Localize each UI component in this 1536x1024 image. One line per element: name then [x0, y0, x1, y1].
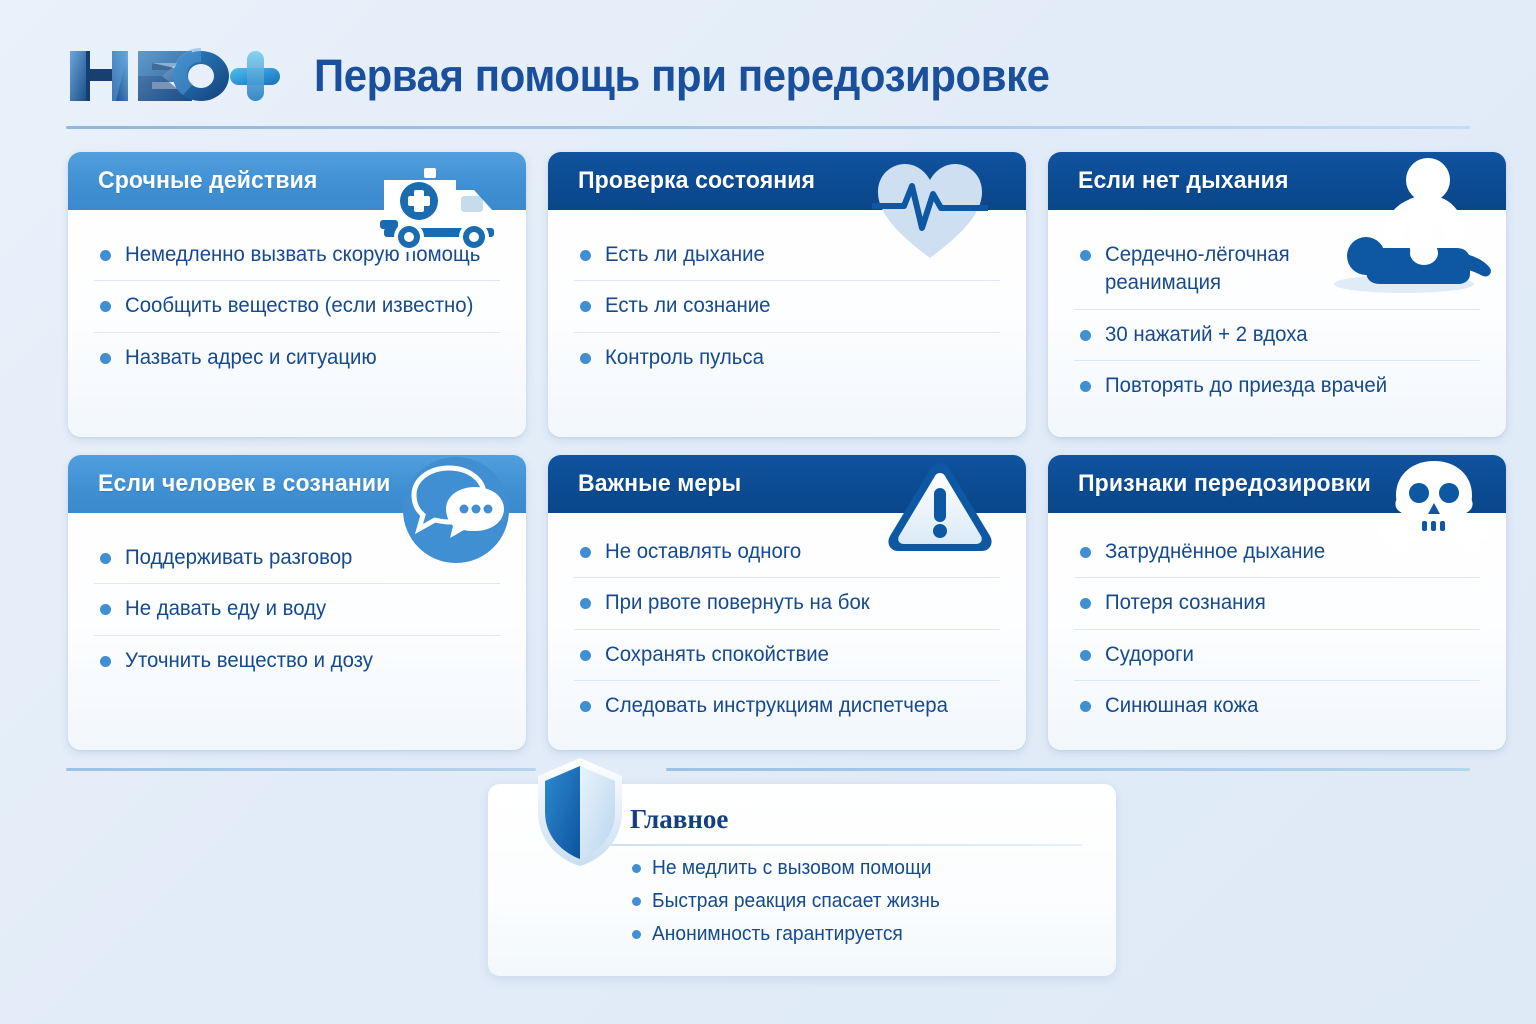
list-item: Судороги: [1074, 629, 1480, 680]
bullet-dot: [1080, 650, 1091, 661]
card-urgent-actions[interactable]: Срочные действия: [68, 152, 526, 437]
footer-divider-left: [66, 768, 536, 771]
card-body: Есть ли дыхание Есть ли сознание Контрол…: [548, 210, 1026, 399]
list-item: Поддерживать разговор: [94, 533, 500, 583]
card-body: Сердечно-лёгочная реанимация 30 нажатий …: [1048, 210, 1506, 427]
list-item-text: При рвоте повернуть на бок: [605, 589, 870, 617]
card-body: Немедленно вызвать скорую помощь Сообщит…: [68, 210, 526, 399]
bullet-dot: [580, 598, 591, 609]
list-item-text: Сохранять спокойствие: [605, 641, 829, 669]
list-item: Не давать еду и воду: [94, 583, 500, 634]
list-item-text: Судороги: [1105, 641, 1194, 669]
card-title: Признаки передозировки: [1078, 470, 1371, 498]
bullet-dot: [1080, 330, 1091, 341]
list-item: Повторять до приезда врачей: [1074, 360, 1480, 411]
card-important-measures[interactable]: Важные меры Не оставлять од: [548, 455, 1026, 750]
list-item: Сообщить вещество (если известно): [94, 280, 500, 331]
footer-title: Главное: [594, 800, 1082, 833]
shield-icon: [534, 756, 626, 868]
bullet-dot: [580, 353, 591, 364]
list-item-text: Немедленно вызвать скорую помощь: [125, 241, 480, 269]
card-body: Поддерживать разговор Не давать еду и во…: [68, 513, 526, 702]
card-no-breathing[interactable]: Если нет дыхания: [1048, 152, 1506, 437]
page-title: Первая помощь при передозировке: [314, 50, 1050, 102]
list-item-text: Повторять до приезда врачей: [1105, 372, 1387, 400]
list-item-text: Следовать инструкциям диспетчера: [605, 692, 948, 720]
bullet-dot: [100, 301, 111, 312]
page-header: Первая помощь при передозировке: [66, 24, 1470, 128]
list-item: Назвать адрес и ситуацию: [94, 332, 500, 383]
bullet-dot: [1080, 547, 1091, 558]
list-item-text: Есть ли сознание: [605, 292, 770, 320]
list-item-text: Сообщить вещество (если известно): [125, 292, 473, 320]
list-item: Анонимность гарантируется: [632, 918, 1082, 951]
list-item: Контроль пульса: [574, 332, 1000, 383]
bullet-dot: [100, 553, 111, 564]
footer-divider-right: [666, 768, 1470, 771]
bullet-dot: [1080, 381, 1091, 392]
bullet-dot: [580, 547, 591, 558]
bullet-dot: [580, 701, 591, 712]
list-item: Сердечно-лёгочная реанимация: [1074, 230, 1480, 309]
list-item-text: Не оставлять одного: [605, 538, 801, 566]
list-item: Следовать инструкциям диспетчера: [574, 680, 1000, 731]
footer-list: Не медлить с вызовом помощи Быстрая реак…: [594, 852, 1082, 951]
card-header: Признаки передозировки: [1048, 455, 1506, 513]
list-item-text: Быстрая реакция спасает жизнь: [652, 890, 940, 913]
bullet-dot: [100, 656, 111, 667]
list-item-text: Сердечно-лёгочная реанимация: [1105, 241, 1349, 298]
card-header: Если человек в сознании: [68, 455, 526, 513]
list-item: 30 нажатий + 2 вдоха: [1074, 309, 1480, 360]
card-body: Затруднённое дыхание Потеря сознания Суд…: [1048, 513, 1506, 747]
list-item-text: Затруднённое дыхание: [1105, 538, 1325, 566]
card-overdose-signs[interactable]: Признаки передозировки: [1048, 455, 1506, 750]
list-item: Не оставлять одного: [574, 527, 1000, 577]
list-item: Быстрая реакция спасает жизнь: [632, 885, 1082, 918]
neo-plus-logo: [66, 43, 282, 109]
footer-panel[interactable]: Главное Не медлить с вызовом помощи Быст…: [488, 784, 1116, 976]
list-item: Есть ли сознание: [574, 280, 1000, 331]
bullet-dot: [632, 930, 641, 939]
card-title: Если человек в сознании: [98, 470, 390, 498]
card-person-conscious[interactable]: Если человек в сознании Поддерживать раз…: [68, 455, 526, 750]
list-item: Синюшная кожа: [1074, 680, 1480, 731]
list-item: Есть ли дыхание: [574, 230, 1000, 280]
list-item-text: Потеря сознания: [1105, 589, 1266, 617]
list-item: Затруднённое дыхание: [1074, 527, 1480, 577]
list-item: Уточнить вещество и дозу: [94, 635, 500, 686]
card-header: Проверка состояния: [548, 152, 1026, 210]
list-item-text: Не медлить с вызовом помощи: [652, 857, 931, 880]
list-item-text: Назвать адрес и ситуацию: [125, 344, 377, 372]
list-item-text: Синюшная кожа: [1105, 692, 1258, 720]
list-item: Потеря сознания: [1074, 577, 1480, 628]
card-header: Срочные действия: [68, 152, 526, 210]
bullet-dot: [1080, 598, 1091, 609]
card-title: Срочные действия: [98, 167, 317, 195]
list-item-text: Уточнить вещество и дозу: [125, 647, 373, 675]
list-item-text: 30 нажатий + 2 вдоха: [1105, 321, 1308, 349]
card-header: Важные меры: [548, 455, 1026, 513]
bullet-dot: [632, 864, 641, 873]
list-item-text: Не давать еду и воду: [125, 595, 326, 623]
bullet-dot: [632, 897, 641, 906]
card-body: Не оставлять одного При рвоте повернуть …: [548, 513, 1026, 747]
bullet-dot: [580, 250, 591, 261]
card-title: Важные меры: [578, 470, 741, 498]
bullet-dot: [100, 250, 111, 261]
card-title: Если нет дыхания: [1078, 167, 1288, 195]
list-item-text: Есть ли дыхание: [605, 241, 765, 269]
bullet-dot: [580, 650, 591, 661]
list-item-text: Анонимность гарантируется: [652, 923, 903, 946]
list-item: Не медлить с вызовом помощи: [632, 852, 1082, 885]
bullet-dot: [1080, 250, 1091, 261]
bullet-dot: [100, 604, 111, 615]
list-item-text: Контроль пульса: [605, 344, 764, 372]
header-divider: [66, 126, 1470, 129]
footer-title-underline: [594, 844, 1082, 846]
bullet-dot: [100, 353, 111, 364]
list-item: Немедленно вызвать скорую помощь: [94, 230, 500, 280]
bullet-dot: [580, 301, 591, 312]
card-condition-check[interactable]: Проверка состояния Есть ли дыхание Есть …: [548, 152, 1026, 437]
card-title: Проверка состояния: [578, 167, 815, 195]
cards-grid: Срочные действия: [68, 152, 1468, 750]
list-item: Сохранять спокойствие: [574, 629, 1000, 680]
list-item-text: Поддерживать разговор: [125, 544, 352, 572]
card-header: Если нет дыхания: [1048, 152, 1506, 210]
bullet-dot: [1080, 701, 1091, 712]
list-item: При рвоте повернуть на бок: [574, 577, 1000, 628]
